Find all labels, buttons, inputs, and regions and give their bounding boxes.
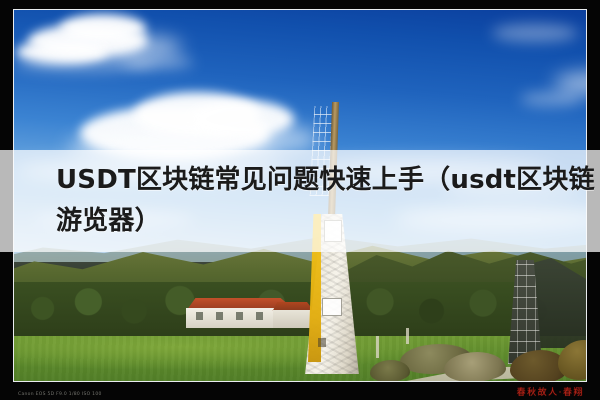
cloud-shape	[124, 56, 194, 69]
article-hero-image: USDT区块链常见问题快速上手（usdt区块链游览器） Canon EOS 5D…	[0, 0, 600, 400]
steel-tower-frame	[508, 260, 542, 364]
window-shape	[216, 312, 223, 320]
cloud-shape	[520, 92, 582, 106]
exif-watermark: Canon EOS 5D F9.0 1/80 ISO 100	[18, 392, 102, 397]
cloud-shape	[492, 24, 578, 42]
cloud-shape	[106, 36, 182, 58]
photographer-signature-watermark: 春秋故人·春翔	[517, 385, 584, 398]
window-shape	[256, 312, 263, 320]
fence-post	[406, 328, 409, 344]
shrub-shape	[444, 352, 506, 381]
page-title: USDT区块链常见问题快速上手（usdt区块链游览器）	[0, 160, 600, 242]
shrub-shape	[370, 360, 410, 381]
window-shape	[236, 312, 243, 320]
title-overlay-band: USDT区块链常见问题快速上手（usdt区块链游览器）	[0, 150, 600, 252]
tower-panel	[322, 298, 342, 316]
steel-lattice-tower	[508, 260, 542, 364]
window-shape	[196, 312, 203, 320]
fence-post	[376, 336, 379, 358]
tower-opening	[318, 338, 326, 347]
